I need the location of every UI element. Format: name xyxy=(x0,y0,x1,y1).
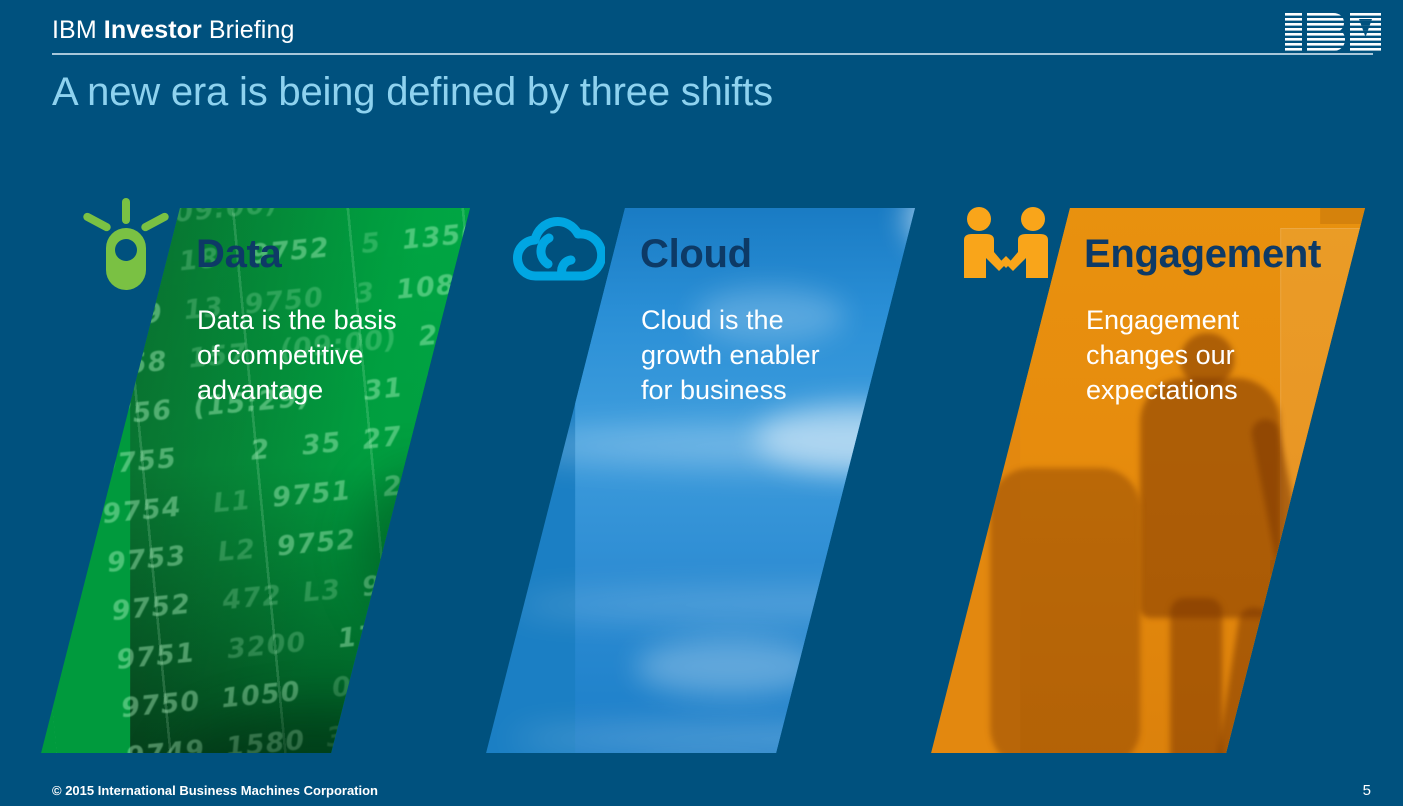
panel-data-body: Data is the basis of competitive advanta… xyxy=(197,303,447,408)
page-number: 5 xyxy=(1363,782,1371,799)
panel-data-heading: Data xyxy=(196,232,282,277)
copyright-text: © 2015 International Business Machines C… xyxy=(52,783,378,798)
panel-data-texture: 9752 12 66 9750 5 9751 09:00) 2 2 9760 1… xyxy=(130,208,470,753)
panel-engagement-texture xyxy=(1020,208,1365,753)
shift-panels: 9752 12 66 9750 5 9751 09:00) 2 2 9760 1… xyxy=(0,0,1403,806)
handshake-people-icon xyxy=(958,206,1054,280)
panel-engagement[interactable] xyxy=(931,208,1365,753)
panel-cloud-heading: Cloud xyxy=(640,232,752,277)
panel-cloud-texture xyxy=(575,208,915,753)
cloud-icon xyxy=(513,216,605,282)
panel-engagement-body: Engagement changes our expectations xyxy=(1086,303,1336,408)
slide: IBM Investor Briefing xyxy=(0,0,1403,806)
panel-cloud[interactable] xyxy=(486,208,915,753)
lightbulb-icon xyxy=(78,196,174,292)
panel-cloud-body: Cloud is the growth enabler for business xyxy=(641,303,891,408)
panel-engagement-heading: Engagement xyxy=(1084,232,1321,277)
